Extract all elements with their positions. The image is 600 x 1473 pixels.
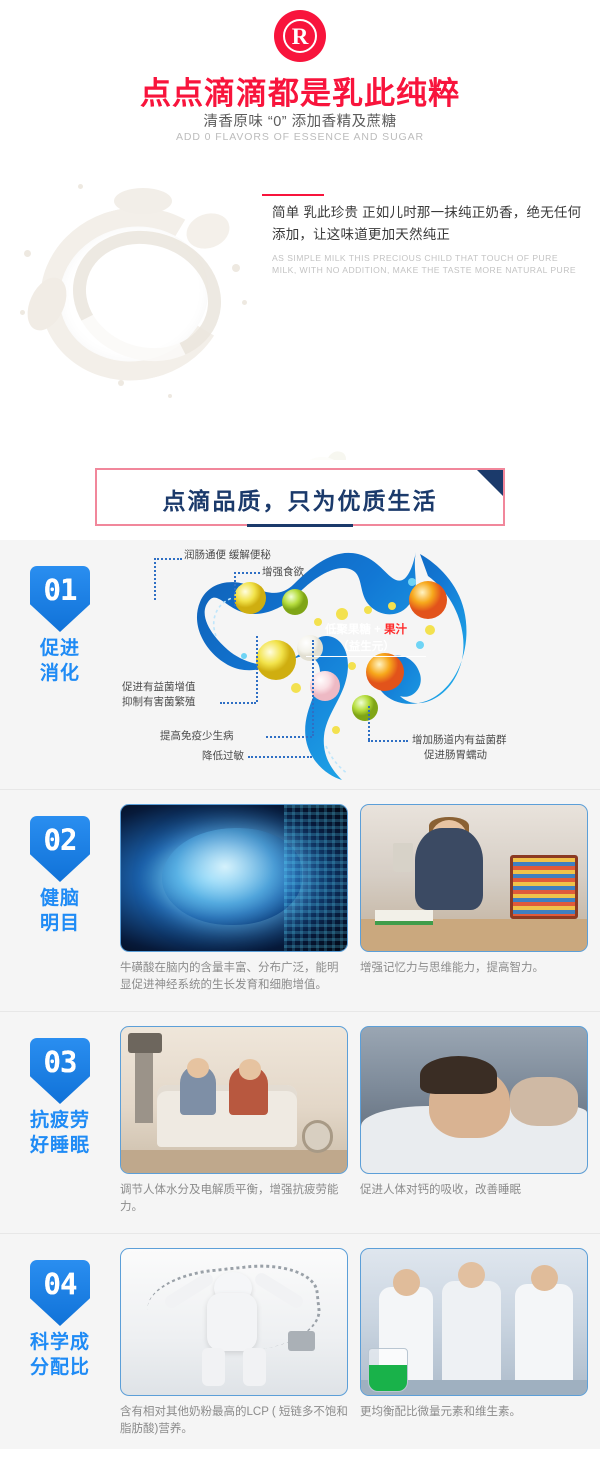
feature-row-03: 03 抗疲劳 好睡眠 调节人体水分及电解质 xyxy=(0,1012,600,1234)
diagram-label-right-1b: 促进肠胃蠕动 xyxy=(424,748,487,763)
diagram-center-label: 低聚果糖 + 果汁 （益生元） xyxy=(306,622,426,657)
feature-label-line-1: 促进 xyxy=(0,636,120,661)
brain-scan-photo xyxy=(120,804,348,952)
feature-row-02: 02 健脑 明目 牛磺酸在脑内的含量丰富、分布广泛，能明显促进神经系统的生长发育… xyxy=(0,790,600,1012)
feature-panel-04: 含有相对其他奶粉最高的LCP ( 短链多不饱和脂肪酸)营养。 更均衡配比微量元素… xyxy=(120,1234,600,1450)
feature-panel-01: 低聚果糖 + 果汁 （益生元） xyxy=(120,540,600,788)
feature-number: 01 xyxy=(30,573,90,607)
diagram-label-right-1a: 增加肠道内有益菌群 xyxy=(412,733,507,748)
sleeping-man-photo xyxy=(360,1026,588,1174)
milk-splash-illustration xyxy=(18,180,268,410)
diagram-label-top-2: 增强食欲 xyxy=(262,565,304,580)
center-highlight: 果汁 xyxy=(384,624,407,636)
feature-cell: 牛磺酸在脑内的含量丰富、分布广泛，能明显促进神经系统的生长发育和细胞增值。 xyxy=(120,804,348,1006)
product-detail-page: R 点点滴滴都是乳此纯粹 清香原味 “0” 添加香精及蔗糖 ADD 0 FLAV… xyxy=(0,0,600,1473)
shield-icon: 03 xyxy=(30,1038,90,1104)
splash-copy-cn: 简单 乳此珍贵 正如儿时那一抹纯正奶香，绝无任何添加，让这味道更加天然纯正 xyxy=(272,202,584,246)
feature-badge-col-04: 04 科学成 分配比 xyxy=(0,1234,120,1380)
intestine-shape-svg xyxy=(120,540,600,788)
milk-splash-section: 简单 乳此珍贵 正如儿时那一抹纯正奶香，绝无任何添加，让这味道更加天然纯正 AS… xyxy=(0,170,600,460)
diagram-label-left-1a: 促进有益菌增值 xyxy=(122,680,196,695)
feature-caption: 含有相对其他奶粉最高的LCP ( 短链多不饱和脂肪酸)营养。 xyxy=(120,1404,348,1450)
diagram-label-top-1: 润肠通便 缓解便秘 xyxy=(184,548,271,563)
registered-mark-letter: R xyxy=(283,19,317,53)
shield-icon: 04 xyxy=(30,1260,90,1326)
feature-label-line-2: 分配比 xyxy=(0,1355,120,1380)
digestion-diagram: 低聚果糖 + 果汁 （益生元） xyxy=(120,540,600,788)
feature-caption: 牛磺酸在脑内的含量丰富、分布广泛，能明显促进神经系统的生长发育和细胞增值。 xyxy=(120,960,348,1006)
section-banner: 点滴品质，只为优质生活 xyxy=(95,468,505,526)
splash-copy-en: AS SIMPLE MILK THIS PRECIOUS CHILD THAT … xyxy=(272,252,584,276)
hero-subtitle-cn: 清香原味 “0” 添加香精及蔗糖 xyxy=(0,110,600,131)
feature-cell: 促进人体对钙的吸收，改善睡眠 xyxy=(360,1026,588,1228)
feature-panel-02: 牛磺酸在脑内的含量丰富、分布广泛，能明显促进神经系统的生长发育和细胞增值。 增强… xyxy=(120,790,600,1006)
banner-title: 点滴品质，只为优质生活 xyxy=(97,482,503,516)
feature-label: 抗疲劳 好睡眠 xyxy=(0,1108,120,1158)
feature-label-line-2: 明目 xyxy=(0,911,120,936)
feature-number: 02 xyxy=(30,823,90,857)
feature-label-line-1: 科学成 xyxy=(0,1330,120,1355)
feature-badge-col-01: 01 促进 消化 xyxy=(0,540,120,686)
feature-row-04: 04 科学成 分配比 含有相对其他奶粉最高的LCP ( 短链多不饱和脂肪 xyxy=(0,1234,600,1449)
feature-cell: 含有相对其他奶粉最高的LCP ( 短链多不饱和脂肪酸)营养。 xyxy=(120,1248,348,1450)
feature-number: 04 xyxy=(30,1267,90,1301)
feature-label: 健脑 明目 xyxy=(0,886,120,936)
feature-label: 促进 消化 xyxy=(0,636,120,686)
accent-rule xyxy=(262,194,324,196)
feature-label-line-2: 消化 xyxy=(0,661,120,686)
hero-subtitle-en: ADD 0 FLAVORS OF ESSENCE AND SUGAR xyxy=(0,131,600,143)
shield-icon: 01 xyxy=(30,566,90,632)
splash-copy-block: 简单 乳此珍贵 正如儿时那一抹纯正奶香，绝无任何添加，让这味道更加天然纯正 AS… xyxy=(272,190,584,276)
feature-caption: 调节人体水分及电解质平衡，增强抗疲劳能力。 xyxy=(120,1182,348,1228)
feature-cell: 增强记忆力与思维能力，提高智力。 xyxy=(360,804,588,1006)
feature-label-line-1: 抗疲劳 xyxy=(0,1108,120,1133)
laboratory-team-photo xyxy=(360,1248,588,1396)
feature-number: 03 xyxy=(30,1045,90,1079)
section-banner-wrap: 点滴品质，只为优质生活 xyxy=(0,460,600,540)
diagram-label-left-2: 提高免疫少生病 xyxy=(160,729,234,744)
feature-row-01: 01 促进 消化 xyxy=(0,540,600,790)
center-main: 低聚果糖 + xyxy=(325,624,381,636)
banner-underline xyxy=(247,524,353,527)
diagram-label-left-1b: 抑制有害菌繁殖 xyxy=(122,695,196,710)
feature-caption: 促进人体对钙的吸收，改善睡眠 xyxy=(360,1182,588,1211)
registered-trademark-icon: R xyxy=(274,10,326,62)
feature-badge-col-02: 02 健脑 明目 xyxy=(0,790,120,936)
hero-section: R 点点滴滴都是乳此纯粹 清香原味 “0” 添加香精及蔗糖 ADD 0 FLAV… xyxy=(0,0,600,170)
boy-studying-photo xyxy=(360,804,588,952)
shield-icon: 02 xyxy=(30,816,90,882)
feature-cell: 更均衡配比微量元素和维生素。 xyxy=(360,1248,588,1450)
feature-label-line-1: 健脑 xyxy=(0,886,120,911)
feature-caption: 更均衡配比微量元素和维生素。 xyxy=(360,1404,588,1433)
diagram-label-left-3: 降低过敏 xyxy=(202,749,244,764)
feature-cell: 调节人体水分及电解质平衡，增强抗疲劳能力。 xyxy=(120,1026,348,1228)
feature-label-line-2: 好睡眠 xyxy=(0,1133,120,1158)
tired-couple-photo xyxy=(120,1026,348,1174)
figure-breaking-chain-photo xyxy=(120,1248,348,1396)
feature-panel-03: 调节人体水分及电解质平衡，增强抗疲劳能力。 促进人体对钙的吸收，改善睡眠 xyxy=(120,1012,600,1228)
center-sub: （益生元） xyxy=(306,639,426,657)
features-list: 01 促进 消化 xyxy=(0,540,600,1449)
feature-badge-col-03: 03 抗疲劳 好睡眠 xyxy=(0,1012,120,1158)
page-title: 点点滴滴都是乳此纯粹 xyxy=(0,68,600,113)
feature-caption: 增强记忆力与思维能力，提高智力。 xyxy=(360,960,588,989)
feature-label: 科学成 分配比 xyxy=(0,1330,120,1380)
